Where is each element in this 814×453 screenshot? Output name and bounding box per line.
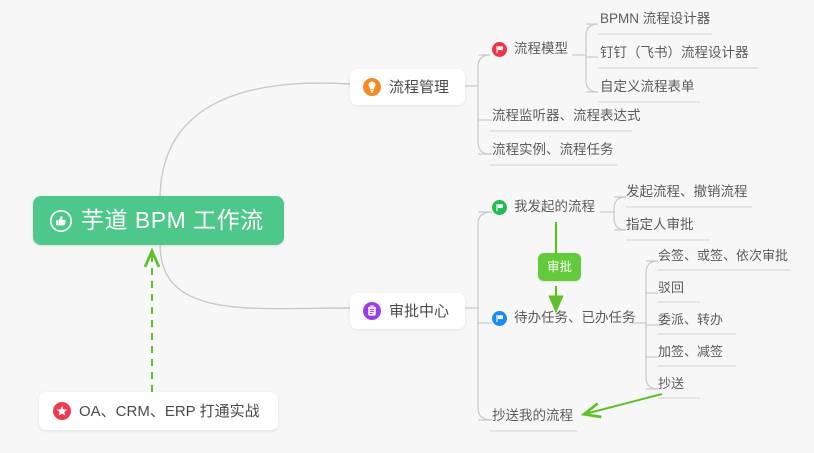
branch-label-approval-center: 审批中心 <box>389 304 449 319</box>
flag-green-icon <box>492 200 507 215</box>
node-label-bpmn-designer: BPMN 流程设计器 <box>600 12 710 27</box>
node-add-remove-sign[interactable]: 加签、减签 <box>658 345 723 364</box>
clipboard-icon <box>363 302 381 320</box>
node-process-listener-expression[interactable]: 流程监听器、流程表达式 <box>492 109 641 129</box>
footnote-label: OA、CRM、ERP 打通实战 <box>79 404 260 419</box>
star-icon <box>53 402 71 420</box>
flag-red-icon <box>492 42 507 57</box>
branch-label-process-management: 流程管理 <box>389 80 449 95</box>
node-my-initiated-process[interactable]: 我发起的流程 <box>492 200 595 220</box>
node-label-dingtalk-feishu-designer: 钉钉（飞书）流程设计器 <box>600 46 749 61</box>
mindmap-canvas: 芋道 BPM 工作流 流程管理 审批中心 <box>0 0 814 453</box>
node-label-cc: 抄送 <box>658 377 684 391</box>
node-label-custom-process-form: 自定义流程表单 <box>600 80 695 95</box>
footnote-node[interactable]: OA、CRM、ERP 打通实战 <box>39 392 278 430</box>
node-process-instance-task[interactable]: 流程实例、流程任务 <box>492 143 614 163</box>
node-dingtalk-feishu-designer[interactable]: 钉钉（飞书）流程设计器 <box>600 46 749 66</box>
node-countersign-orsign-sequential[interactable]: 会签、或签、依次审批 <box>658 249 788 268</box>
node-label-process-listener-expression: 流程监听器、流程表达式 <box>492 109 641 124</box>
node-label-add-remove-sign: 加签、减签 <box>658 345 723 359</box>
lightbulb-icon <box>363 78 381 96</box>
node-label-delegate-transfer: 委派、转办 <box>658 313 723 327</box>
node-delegate-transfer[interactable]: 委派、转办 <box>658 313 723 332</box>
node-label-reject: 驳回 <box>658 281 684 295</box>
node-cc-to-me-process[interactable]: 抄送我的流程 <box>492 409 573 429</box>
node-cc[interactable]: 抄送 <box>658 377 684 396</box>
node-process-model[interactable]: 流程模型 <box>492 42 568 62</box>
node-label-countersign-orsign-sequential: 会签、或签、依次审批 <box>658 249 788 263</box>
node-label-todo-done-task: 待办任务、已办任务 <box>514 311 636 326</box>
node-label-my-initiated-process: 我发起的流程 <box>514 200 595 215</box>
root-node[interactable]: 芋道 BPM 工作流 <box>33 196 284 245</box>
node-start-cancel-process[interactable]: 发起流程、撤销流程 <box>626 185 748 205</box>
node-label-assignee-approval: 指定人审批 <box>626 218 694 233</box>
node-reject[interactable]: 驳回 <box>658 281 684 300</box>
annotation-tag-approval[interactable]: 审批 <box>538 253 581 281</box>
annotation-tag-approval-label: 审批 <box>547 260 572 274</box>
node-label-start-cancel-process: 发起流程、撤销流程 <box>626 185 748 200</box>
branch-node-approval-center[interactable]: 审批中心 <box>350 293 465 329</box>
node-custom-process-form[interactable]: 自定义流程表单 <box>600 80 695 100</box>
node-label-process-instance-task: 流程实例、流程任务 <box>492 143 614 158</box>
root-label: 芋道 BPM 工作流 <box>81 209 264 232</box>
node-bpmn-designer[interactable]: BPMN 流程设计器 <box>600 12 710 32</box>
flag-blue-icon <box>492 311 507 326</box>
node-label-cc-to-me-process: 抄送我的流程 <box>492 409 573 424</box>
node-assignee-approval[interactable]: 指定人审批 <box>626 218 694 238</box>
node-label-process-model: 流程模型 <box>514 42 568 57</box>
branch-node-process-management[interactable]: 流程管理 <box>350 69 465 105</box>
node-todo-done-task[interactable]: 待办任务、已办任务 <box>492 311 636 331</box>
thumbs-up-icon <box>50 210 72 232</box>
